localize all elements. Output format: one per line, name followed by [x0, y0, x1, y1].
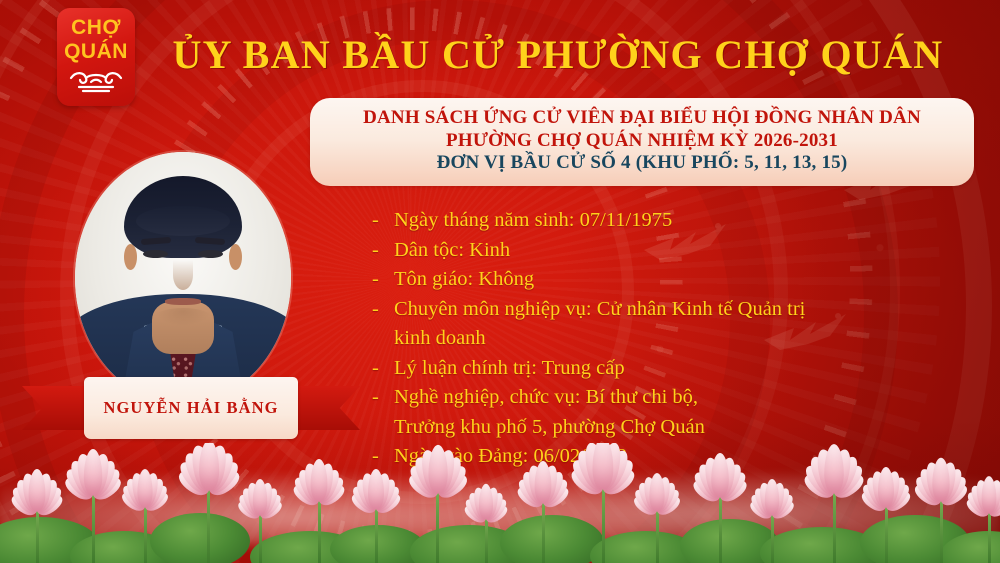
lotus-stem: [885, 503, 888, 563]
detail-text: Dân tộc: Kinh: [394, 236, 972, 266]
detail-text: Chuyên môn nghiệp vụ: Cử nhân Kinh tế Qu…: [394, 295, 972, 325]
candidate-name: NGUYỄN HẢI BẰNG: [103, 398, 278, 418]
detail-text: Ngày tháng năm sinh: 07/11/1975: [394, 206, 972, 236]
lotus-stem: [542, 499, 545, 563]
lotus-stem: [485, 515, 488, 563]
detail-row: - Lý luận chính trị: Trung cấp: [372, 354, 972, 384]
lotus-stem: [436, 489, 439, 563]
wave-ornament-icon: [67, 69, 125, 95]
detail-bullet: -: [372, 354, 394, 384]
lotus-stem: [259, 511, 262, 563]
page-title: ỦY BAN BẦU CỬ PHƯỜNG CHỢ QUÁN: [168, 24, 948, 84]
lotus-stem: [719, 493, 722, 563]
lotus-stem: [318, 497, 321, 563]
lotus-flower: [523, 457, 563, 503]
lotus-flower: [17, 465, 57, 511]
lotus-flower: [973, 477, 1000, 513]
lotus-flower: [698, 446, 742, 497]
detail-bullet: -: [372, 236, 394, 266]
lotus-flower: [69, 443, 117, 495]
lotus-flower: [758, 481, 787, 515]
lotus-flower: [358, 467, 394, 509]
header-line-1: DANH SÁCH ỨNG CỬ VIÊN ĐẠI BIỂU HỘI ĐỒNG …: [363, 107, 921, 129]
header-line-2: PHƯỜNG CHỢ QUÁN NHIỆM KỲ 2026-2031: [446, 130, 838, 152]
lotus-flower: [573, 443, 634, 489]
lotus-stem: [36, 507, 39, 563]
detail-bullet: -: [372, 295, 394, 325]
lotus-flower: [299, 455, 339, 501]
detail-row: - Chuyên môn nghiệp vụ: Cử nhân Kinh tế …: [372, 295, 972, 325]
detail-bullet: -: [372, 206, 394, 236]
lotus-flower-band: [0, 443, 1000, 563]
detail-row: - Ngày tháng năm sinh: 07/11/1975: [372, 206, 972, 236]
logo-line-2: QUÁN: [64, 41, 128, 62]
election-candidate-poster: CHỢ QUÁN ỦY BAN BẦU CỬ PHƯỜNG CHỢ QUÁN D…: [0, 0, 1000, 563]
detail-text: Tôn giáo: Không: [394, 265, 972, 295]
lotus-stem: [833, 489, 836, 563]
lotus-stem: [602, 485, 605, 563]
detail-bullet: -: [372, 265, 394, 295]
lotus-flower: [246, 481, 275, 515]
detail-row: - Tôn giáo: Không: [372, 265, 972, 295]
detail-continuation: kinh doanh: [372, 324, 972, 354]
list-header-box: DANH SÁCH ỨNG CỬ VIÊN ĐẠI BIỂU HỘI ĐỒNG …: [310, 98, 974, 186]
lotus-stem: [144, 503, 147, 563]
lotus-flower: [180, 443, 236, 489]
cho-quan-logo: CHỢ QUÁN: [57, 8, 135, 106]
candidate-details-list: - Ngày tháng năm sinh: 07/11/1975 - Dân …: [372, 206, 972, 472]
lotus-leaf: [150, 513, 250, 563]
detail-row: - Nghề nghiệp, chức vụ: Bí thư chi bộ,: [372, 383, 972, 413]
lotus-stem: [988, 509, 991, 563]
lotus-stem: [656, 507, 659, 563]
detail-text: Nghề nghiệp, chức vụ: Bí thư chi bộ,: [394, 383, 972, 413]
lotus-flower: [641, 473, 673, 511]
detail-row: - Dân tộc: Kinh: [372, 236, 972, 266]
candidate-name-plate: NGUYỄN HẢI BẰNG: [84, 377, 298, 439]
lotus-stem: [92, 491, 95, 563]
lotus-flower: [868, 465, 904, 507]
lotus-flower: [807, 443, 861, 493]
lotus-leaf: [500, 515, 604, 563]
lotus-stem: [771, 511, 774, 563]
lotus-stem: [207, 485, 210, 563]
lotus-stem: [940, 497, 943, 563]
header-line-3: ĐƠN VỊ BẦU CỬ SỐ 4 (KHU PHỐ: 5, 11, 13, …: [437, 152, 848, 174]
logo-line-1: CHỢ: [71, 17, 121, 38]
lotus-flower: [472, 486, 500, 519]
detail-text: Lý luận chính trị: Trung cấp: [394, 354, 972, 384]
detail-bullet: -: [372, 383, 394, 413]
candidate-name-ribbon: NGUYỄN HẢI BẰNG: [22, 377, 360, 441]
detail-continuation: Trưởng khu phố 5, phường Chợ Quán: [372, 413, 972, 443]
lotus-flower: [129, 469, 161, 507]
lotus-stem: [375, 505, 378, 563]
lotus-flower: [412, 443, 464, 493]
candidate-portrait: [75, 152, 291, 404]
lotus-flower: [920, 452, 962, 501]
